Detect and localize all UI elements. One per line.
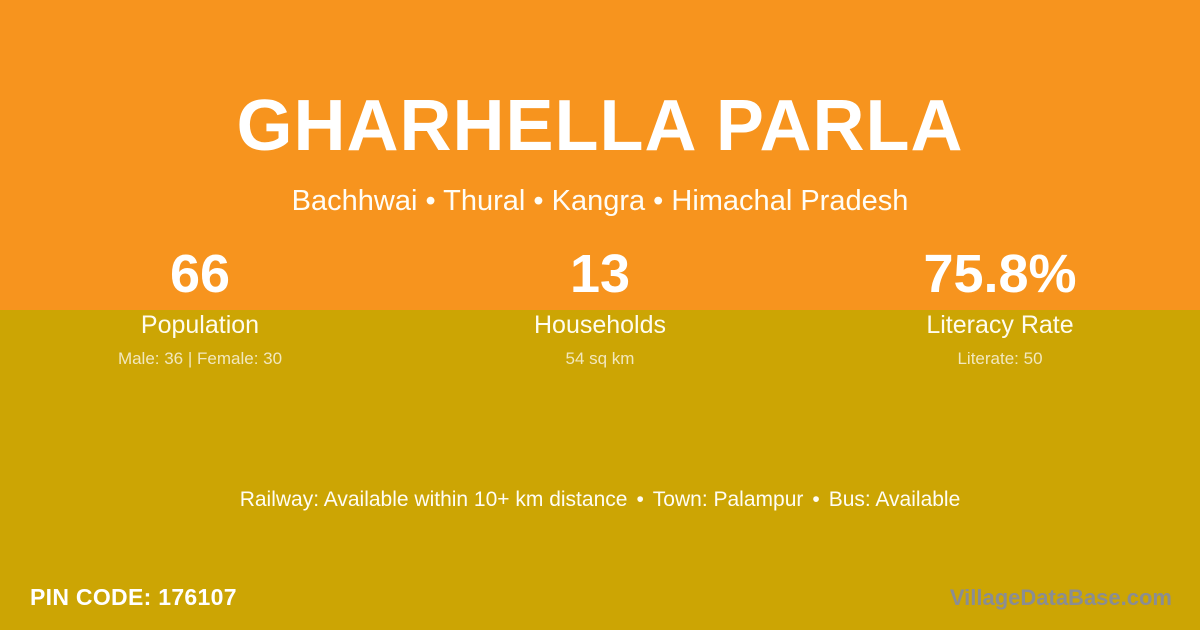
facility-bus: Bus: Available xyxy=(829,488,961,511)
stat-households: 13 Households 54 sq km xyxy=(400,243,800,370)
stat-sublabel: 54 sq km xyxy=(400,348,800,370)
card-footer: PIN CODE: 176107 VillageDataBase.com xyxy=(0,568,1200,630)
stats-row: 66 Population Male: 36 | Female: 30 13 H… xyxy=(0,243,1200,370)
facility-separator: • xyxy=(803,488,828,511)
facility-railway: Railway: Available within 10+ km distanc… xyxy=(240,488,628,511)
card-header: GHARHELLA PARLA Bachhwai • Thural • Kang… xyxy=(0,0,1200,218)
facilities-row: Railway: Available within 10+ km distanc… xyxy=(0,487,1200,513)
pin-code: PIN CODE: 176107 xyxy=(30,582,237,612)
page-title: GHARHELLA PARLA xyxy=(0,0,1200,168)
stat-sublabel: Literate: 50 xyxy=(800,348,1200,370)
breadcrumb: Bachhwai • Thural • Kangra • Himachal Pr… xyxy=(0,168,1200,218)
facility-town: Town: Palampur xyxy=(653,488,804,511)
facility-separator: • xyxy=(627,488,652,511)
stat-label: Literacy Rate xyxy=(800,310,1200,340)
stat-literacy-rate: 75.8% Literacy Rate Literate: 50 xyxy=(800,243,1200,370)
village-info-card: GHARHELLA PARLA Bachhwai • Thural • Kang… xyxy=(0,0,1200,630)
stat-sublabel: Male: 36 | Female: 30 xyxy=(0,348,400,370)
stat-label: Population xyxy=(0,310,400,340)
stat-label: Households xyxy=(400,310,800,340)
stat-population: 66 Population Male: 36 | Female: 30 xyxy=(0,243,400,370)
brand-watermark: VillageDataBase.com xyxy=(950,584,1172,612)
stat-value: 13 xyxy=(400,243,800,305)
stat-value: 75.8% xyxy=(800,243,1200,305)
stat-value: 66 xyxy=(0,243,400,305)
